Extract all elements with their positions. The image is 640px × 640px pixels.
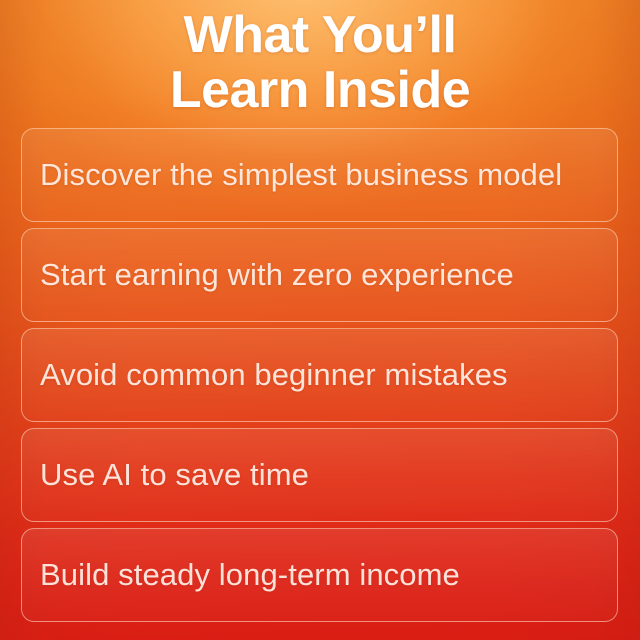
list-item-label: Start earning with zero experience [22,257,528,293]
page-title: What You’ll Learn Inside [0,8,640,118]
list-item[interactable]: Avoid common beginner mistakes [21,328,618,422]
list-item[interactable]: Start earning with zero experience [21,228,618,322]
list-item-label: Discover the simplest business model [22,157,576,193]
list-item[interactable]: Discover the simplest business model [21,128,618,222]
slide-content: What You’ll Learn Inside Discover the si… [0,0,640,640]
list-item[interactable]: Build steady long-term income [21,528,618,622]
list-item[interactable]: Use AI to save time [21,428,618,522]
list-item-label: Use AI to save time [22,457,323,493]
page-title-line-1: What You’ll [0,8,640,63]
list-item-label: Avoid common beginner mistakes [22,357,522,393]
page-title-line-2: Learn Inside [0,63,640,118]
list-item-label: Build steady long-term income [22,557,474,593]
